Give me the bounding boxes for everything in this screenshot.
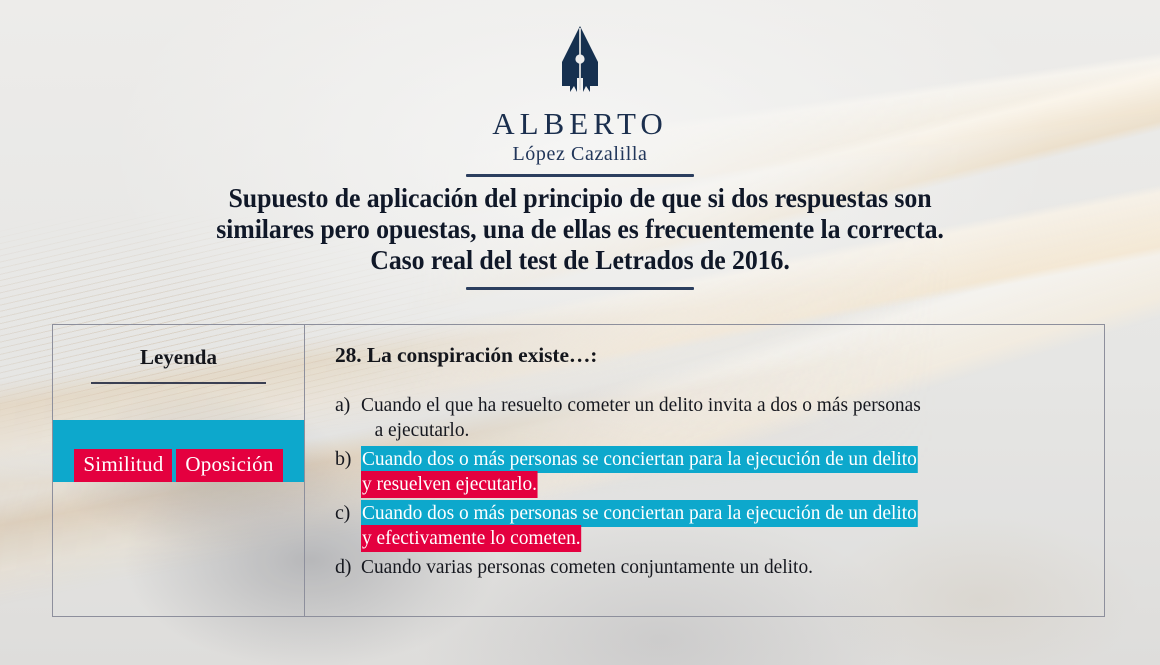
legend-heading: Leyenda (53, 347, 304, 368)
title-line-3: Caso real del test de Letrados de 2016. (91, 244, 1069, 275)
highlight-oposicion: y resuelven ejecutarlo. (361, 471, 538, 498)
answer-option-line: Cuando varias personas cometen conjuntam… (361, 555, 1082, 580)
answer-option-text: Cuando el que ha resuelto cometer un del… (361, 393, 1082, 443)
answer-option-label: a) (335, 393, 361, 418)
answer-option-text: Cuando varias personas cometen conjuntam… (361, 555, 1082, 580)
brand-divider-rule (466, 174, 694, 177)
answer-option-label: c) (335, 501, 361, 526)
answer-list: a)Cuando el que ha resuelto cometer un d… (335, 393, 1104, 580)
answer-option-line: y resuelven ejecutarlo. (361, 472, 1082, 497)
slide-title: Supuesto de aplicación del principio de … (60, 182, 1100, 290)
title-line-2: similares pero opuestas, una de ellas es… (91, 213, 1069, 244)
answer-option: c)Cuando dos o más personas se concierta… (335, 501, 1104, 551)
question-heading: 28. La conspiración existe…: (335, 345, 1104, 367)
title-divider-rule (466, 287, 694, 290)
legend-badge-similitud: Similitud (74, 449, 172, 482)
question-pane: 28. La conspiración existe…: a)Cuando el… (305, 325, 1104, 616)
legend-heading-rule (91, 382, 266, 384)
highlight-similitud: Cuando dos o más personas se conciertan … (361, 446, 918, 473)
fountain-pen-nib-icon (557, 26, 603, 98)
legend-badge-list: Similitud Oposición (53, 420, 304, 482)
answer-option: b)Cuando dos o más personas se concierta… (335, 447, 1104, 497)
answer-option-line: y efectivamente lo cometen. (361, 526, 1082, 551)
legend-pane: Leyenda Similitud Oposición (53, 325, 305, 616)
answer-option-line: Cuando el que ha resuelto cometer un del… (361, 393, 1082, 418)
highlight-similitud: Cuando dos o más personas se conciertan … (361, 500, 918, 527)
content-box: Leyenda Similitud Oposición 28. La consp… (52, 324, 1105, 617)
answer-option-label: b) (335, 447, 361, 472)
answer-option-text: Cuando dos o más personas se conciertan … (361, 501, 1082, 551)
legend-badge-oposicion: Oposición (176, 449, 282, 482)
answer-option-label: d) (335, 555, 361, 580)
answer-option-line: a ejecutarlo. (361, 418, 1082, 443)
brand-header: ALBERTO López Cazalilla (0, 26, 1160, 177)
highlight-oposicion: y efectivamente lo cometen. (361, 525, 582, 552)
answer-option-line: Cuando dos o más personas se conciertan … (361, 447, 1082, 472)
answer-option-text: Cuando dos o más personas se conciertan … (361, 447, 1082, 497)
answer-option: d)Cuando varias personas cometen conjunt… (335, 555, 1104, 580)
slide-canvas: ALBERTO López Cazalilla Supuesto de apli… (0, 0, 1160, 665)
answer-option: a)Cuando el que ha resuelto cometer un d… (335, 393, 1104, 443)
brand-name: ALBERTO (0, 108, 1160, 139)
answer-option-line: Cuando dos o más personas se conciertan … (361, 501, 1082, 526)
title-line-1: Supuesto de aplicación del principio de … (91, 182, 1069, 213)
brand-subtitle: López Cazalilla (0, 144, 1160, 164)
